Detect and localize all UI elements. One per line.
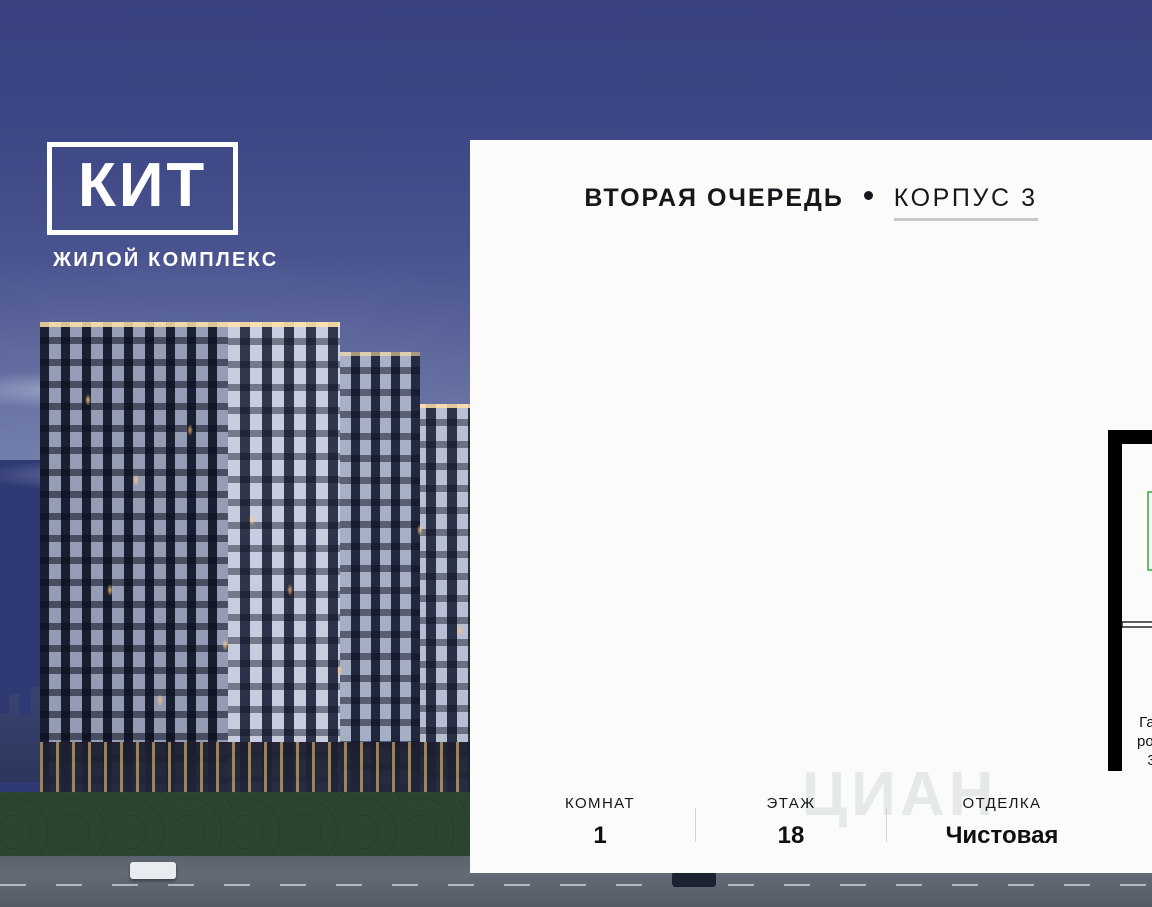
stat-finish-label: ОТДЕЛКА bbox=[913, 795, 1091, 812]
plan-card: ВТОРАЯ ОЧЕРЕДЬ КОРПУС 3 bbox=[470, 140, 1152, 771]
apartment-badge bbox=[1148, 492, 1152, 570]
stats-row: КОМНАТ 1 ЭТАЖ 18 ОТДЕЛКА Чистовая bbox=[505, 795, 1117, 850]
logo-frame: КИТ bbox=[47, 142, 238, 235]
car-white bbox=[130, 862, 176, 879]
stat-floor-label: ЭТАЖ bbox=[722, 795, 860, 812]
logo-tagline: ЖИЛОЙ КОМПЛЕКС bbox=[53, 249, 278, 272]
separator-dot bbox=[864, 191, 873, 200]
wardrobe-area: 3,36 bbox=[1147, 752, 1152, 769]
card-header: ВТОРАЯ ОЧЕРЕДЬ КОРПУС 3 bbox=[470, 184, 1152, 221]
stat-finish: ОТДЕЛКА Чистовая bbox=[887, 795, 1117, 850]
building-label: КОРПУС 3 bbox=[894, 184, 1038, 221]
brand-logo: КИТ ЖИЛОЙ КОМПЛЕКС bbox=[47, 142, 278, 272]
room-label-wardrobe: Гарде- робная 3,36 bbox=[1137, 714, 1152, 769]
stage-label: ВТОРАЯ ОЧЕРЕДЬ bbox=[584, 184, 843, 213]
stat-rooms-value: 1 bbox=[531, 822, 669, 850]
wardrobe-name-2: робная bbox=[1137, 733, 1152, 750]
logo-text: КИТ bbox=[78, 157, 207, 216]
stat-rooms-label: КОМНАТ bbox=[531, 795, 669, 812]
wardrobe-name-1: Гарде- bbox=[1139, 714, 1152, 731]
apartment-stats-bar: ЦИАН КОМНАТ 1 ЭТАЖ 18 ОТДЕЛКА Чистовая bbox=[470, 771, 1152, 873]
stat-floor-value: 18 bbox=[722, 822, 860, 850]
stat-floor: ЭТАЖ 18 bbox=[696, 795, 886, 850]
car-dark bbox=[672, 872, 716, 887]
stat-finish-value: Чистовая bbox=[913, 822, 1091, 850]
stat-rooms: КОМНАТ 1 bbox=[505, 795, 695, 850]
